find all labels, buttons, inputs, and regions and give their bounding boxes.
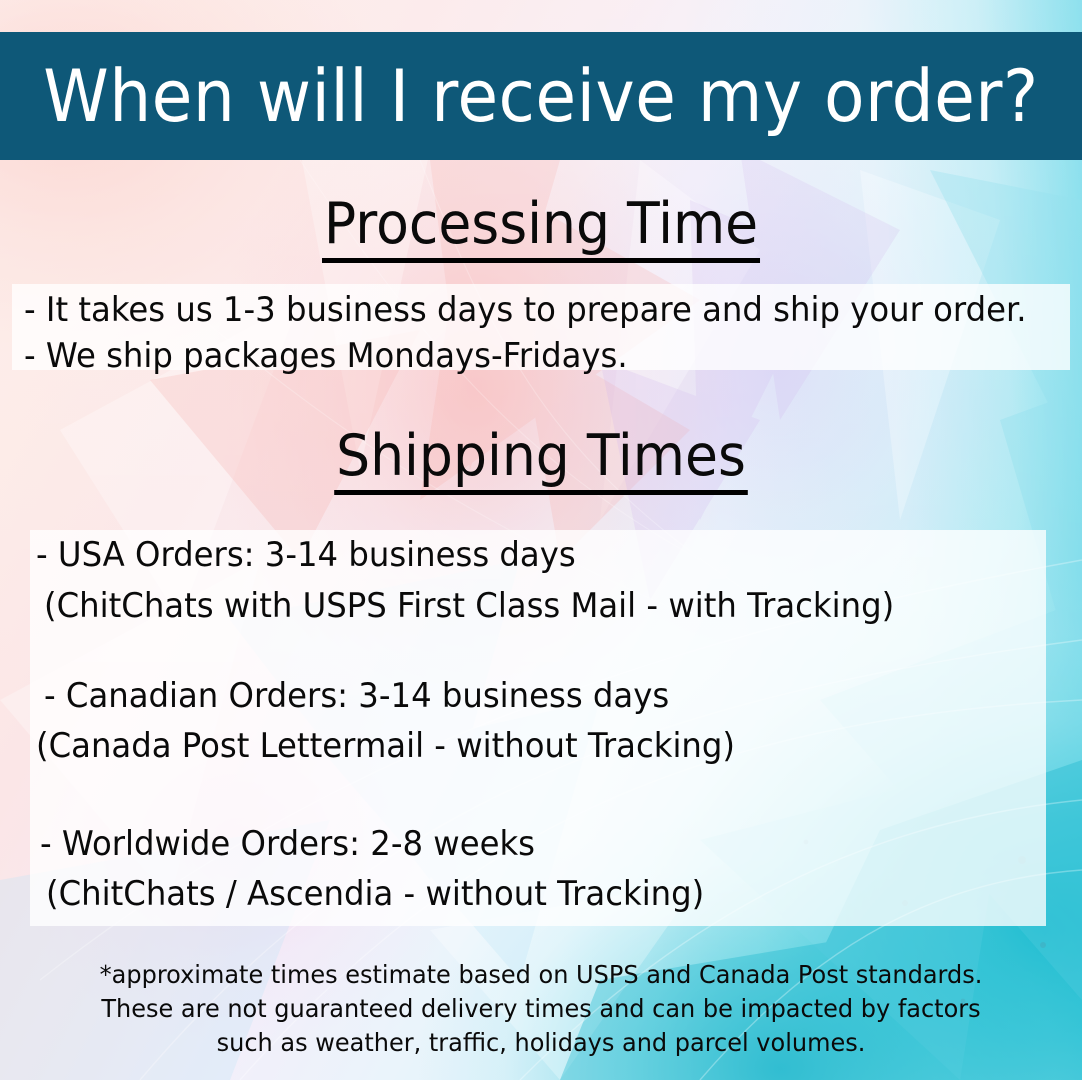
shipping-usa-line-1: - USA Orders: 3-14 business days [36, 538, 576, 572]
shipping-worldwide-line-2: (ChitChats / Ascendia - without Tracking… [46, 877, 704, 911]
shipping-info-graphic: When will I receive my order? Processing… [0, 0, 1082, 1080]
footer-disclaimer-line-2: These are not guaranteed delivery times … [22, 992, 1061, 1026]
footer-disclaimer: *approximate times estimate based on USP… [0, 958, 1082, 1059]
section-heading-processing-time: Processing Time [0, 196, 1082, 263]
footer-disclaimer-line-3: such as weather, traffic, holidays and p… [22, 1026, 1061, 1060]
section-heading-shipping-times-label: Shipping Times [334, 428, 748, 495]
page-title: When will I receive my order? [43, 60, 1038, 132]
processing-line-1: - It takes us 1-3 business days to prepa… [24, 293, 1027, 327]
shipping-canadian-line-1: - Canadian Orders: 3-14 business days [44, 679, 669, 713]
section-heading-processing-time-label: Processing Time [322, 196, 760, 263]
processing-line-2: - We ship packages Mondays-Fridays. [24, 339, 628, 373]
shipping-usa-line-2: (ChitChats with USPS First Class Mail - … [44, 589, 894, 623]
section-heading-shipping-times: Shipping Times [0, 428, 1082, 495]
shipping-canadian-line-2: (Canada Post Lettermail - without Tracki… [36, 729, 735, 763]
header-banner: When will I receive my order? [0, 32, 1082, 160]
shipping-worldwide-line-1: - Worldwide Orders: 2-8 weeks [40, 827, 535, 861]
footer-disclaimer-line-1: *approximate times estimate based on USP… [22, 958, 1061, 992]
